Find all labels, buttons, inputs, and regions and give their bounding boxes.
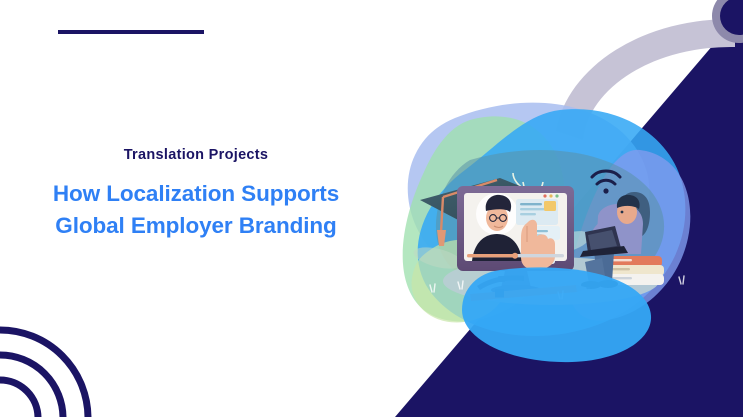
promo-banner: Translation Projects How Localization Su… <box>0 0 743 417</box>
sky-blue-lower-blob <box>462 267 651 362</box>
top-rule <box>58 30 204 34</box>
headline-line-2: Global Employer Branding <box>26 210 366 242</box>
headline-line-1: How Localization Supports <box>26 178 366 210</box>
text-block: Translation Projects How Localization Su… <box>26 148 366 242</box>
page-title: How Localization Supports Global Employe… <box>26 178 366 242</box>
eyebrow-label: Translation Projects <box>26 148 366 164</box>
